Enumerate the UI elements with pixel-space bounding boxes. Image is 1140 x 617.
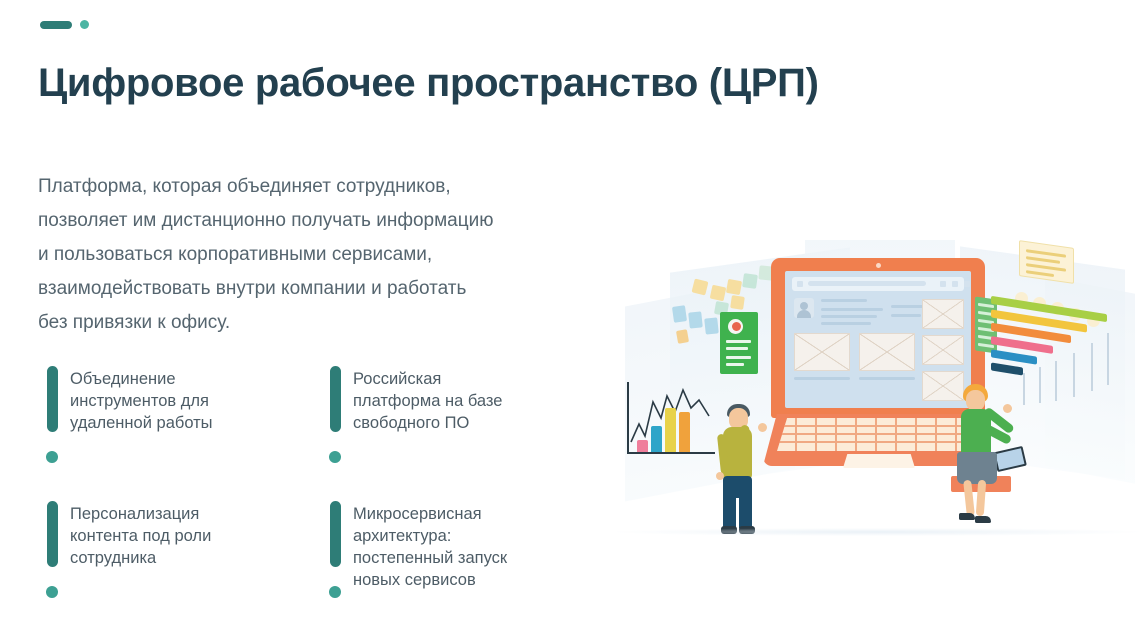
keyboard-row [777, 433, 979, 435]
keyboard-col [835, 418, 837, 451]
bullet-marker-icon [34, 495, 70, 598]
laptop-screen [785, 271, 971, 408]
bullet-marker-icon [34, 360, 70, 463]
chart-bar [651, 426, 662, 452]
browser-menu-icon [940, 281, 946, 287]
browser-toolbar [792, 277, 964, 291]
laptop-lid [771, 258, 985, 418]
content-heading-line [821, 299, 867, 302]
profile-card-line [726, 340, 751, 343]
lead-line-3: и пользоваться корпоративными сервисами, [38, 238, 598, 272]
bullet-dot-icon [46, 586, 58, 598]
feature-2-line-1: Российская [353, 368, 502, 390]
profile-card-icon [720, 312, 758, 374]
browser-address-bar [808, 281, 926, 286]
feature-4-line-4: новых сервисов [353, 569, 507, 591]
woman-shoe [959, 513, 975, 520]
browser-back-icon [797, 281, 803, 287]
keyboard-col [855, 418, 857, 451]
feature-list: Объединение инструментов для удаленной р… [34, 360, 614, 598]
decorative-top-marker [40, 20, 89, 29]
feature-item-2-text: Российская платформа на базе свободного … [353, 360, 502, 434]
browser-profile-icon [952, 281, 958, 287]
feature-item-1-text: Объединение инструментов для удаленной р… [70, 360, 213, 434]
keyboard-col [915, 418, 917, 451]
sidebar-thumbnail [922, 335, 964, 365]
chart-bar [665, 408, 676, 452]
profile-avatar-icon [728, 319, 743, 334]
lead-line-1: Платформа, которая объединяет сотруднико… [38, 170, 598, 204]
bullet-dot-icon [329, 451, 341, 463]
lead-paragraph: Платформа, которая объединяет сотруднико… [38, 170, 598, 340]
sidebar-thumbnail [922, 299, 964, 329]
content-text-line [821, 322, 871, 325]
profile-card-line [726, 347, 748, 350]
keyboard-col [935, 418, 937, 451]
sticky-note-icon [704, 317, 719, 334]
content-text-line [821, 308, 883, 311]
page-title: Цифровое рабочее пространство (ЦРП) [38, 60, 938, 106]
caption-line [859, 377, 915, 380]
keyboard-row [777, 441, 979, 443]
feature-1-line-1: Объединение [70, 368, 213, 390]
bullet-dot-icon [329, 586, 341, 598]
chart-bar [679, 412, 690, 452]
person-woman-figure [955, 380, 1027, 530]
sticky-note-icon [688, 311, 703, 328]
keyboard-col [875, 418, 877, 451]
lead-line-4: взаимодействовать внутри компании и рабо… [38, 272, 598, 306]
sticky-note-icon [672, 305, 687, 323]
profile-card-line [726, 356, 751, 359]
chart-stem [1055, 361, 1057, 401]
sticky-note-icon [730, 295, 745, 310]
image-placeholder [859, 333, 915, 371]
person-man-figure [711, 402, 769, 538]
keyboard-col [895, 418, 897, 451]
bullet-bar-icon [47, 501, 58, 567]
feature-4-line-1: Микросервисная [353, 503, 507, 525]
feature-3-line-1: Персонализация [70, 503, 211, 525]
chart-stem [1039, 367, 1041, 403]
remote-team-illustration [615, 240, 1140, 540]
woman-shoe [975, 516, 991, 523]
marker-dot-icon [80, 20, 89, 29]
marker-bar-icon [40, 21, 72, 29]
note-card-line [1026, 256, 1060, 264]
sticky-note-icon [726, 279, 742, 295]
man-leg-split [736, 498, 739, 528]
line-bar-chart [623, 382, 715, 454]
feature-3-line-3: сотрудника [70, 547, 211, 569]
feature-item-1: Объединение инструментов для удаленной р… [34, 360, 317, 495]
chart-stem [1073, 353, 1075, 397]
bullet-bar-icon [47, 366, 58, 432]
feature-item-3: Персонализация контента под роли сотрудн… [34, 495, 317, 598]
sticky-note-icon [710, 285, 727, 302]
keyboard-col [815, 418, 817, 451]
feature-2-line-3: свободного ПО [353, 412, 502, 434]
feature-2-line-2: платформа на базе [353, 390, 502, 412]
feature-item-4: Микросервисная архитектура: постепенный … [317, 495, 600, 598]
feature-4-line-2: архитектура: [353, 525, 507, 547]
sticky-note-icon [676, 329, 689, 344]
woman-head [966, 390, 985, 411]
bullet-dot-icon [46, 451, 58, 463]
bullet-marker-icon [317, 495, 353, 598]
profile-card-line [726, 363, 744, 366]
caption-line [794, 377, 850, 380]
slide-root: Цифровое рабочее пространство (ЦРП) Плат… [0, 0, 1140, 617]
user-avatar-icon [794, 298, 814, 318]
image-placeholder [794, 333, 850, 371]
laptop-keyboard [777, 418, 979, 451]
woman-skirt [957, 452, 997, 484]
hbar-blue [991, 349, 1037, 364]
note-card-icon [1019, 240, 1074, 284]
bullet-bar-icon [330, 501, 341, 567]
note-card-line [1026, 270, 1054, 277]
bullet-marker-icon [317, 360, 353, 463]
laptop-trackpad [843, 454, 915, 468]
feature-item-2: Российская платформа на базе свободного … [317, 360, 600, 495]
keyboard-col [795, 418, 797, 451]
lead-line-5: без привязки к офису. [38, 306, 598, 340]
hbar-navy [991, 362, 1023, 375]
feature-3-line-2: контента под роли [70, 525, 211, 547]
chart-bar [637, 440, 648, 452]
tablet-device-icon [993, 446, 1027, 472]
sticky-note-icon [742, 273, 758, 289]
ground-shadow [615, 528, 1140, 536]
content-text-line [891, 314, 921, 317]
feature-4-line-3: постепенный запуск [353, 547, 507, 569]
feature-1-line-2: инструментов для [70, 390, 213, 412]
feature-1-line-3: удаленной работы [70, 412, 213, 434]
chart-stem [1107, 333, 1109, 385]
woman-hand [1003, 404, 1012, 413]
woman-leg [976, 480, 986, 516]
lead-line-2: позволяет им дистанционно получать инфор… [38, 204, 598, 238]
bullet-bar-icon [330, 366, 341, 432]
keyboard-row [777, 425, 979, 427]
feature-item-3-text: Персонализация контента под роли сотрудн… [70, 495, 211, 569]
chart-stem [1091, 343, 1093, 391]
webcam-icon [876, 263, 881, 268]
content-text-line [821, 315, 877, 318]
browser-close-icon [964, 281, 970, 287]
feature-item-4-text: Микросервисная архитектура: постепенный … [353, 495, 507, 591]
